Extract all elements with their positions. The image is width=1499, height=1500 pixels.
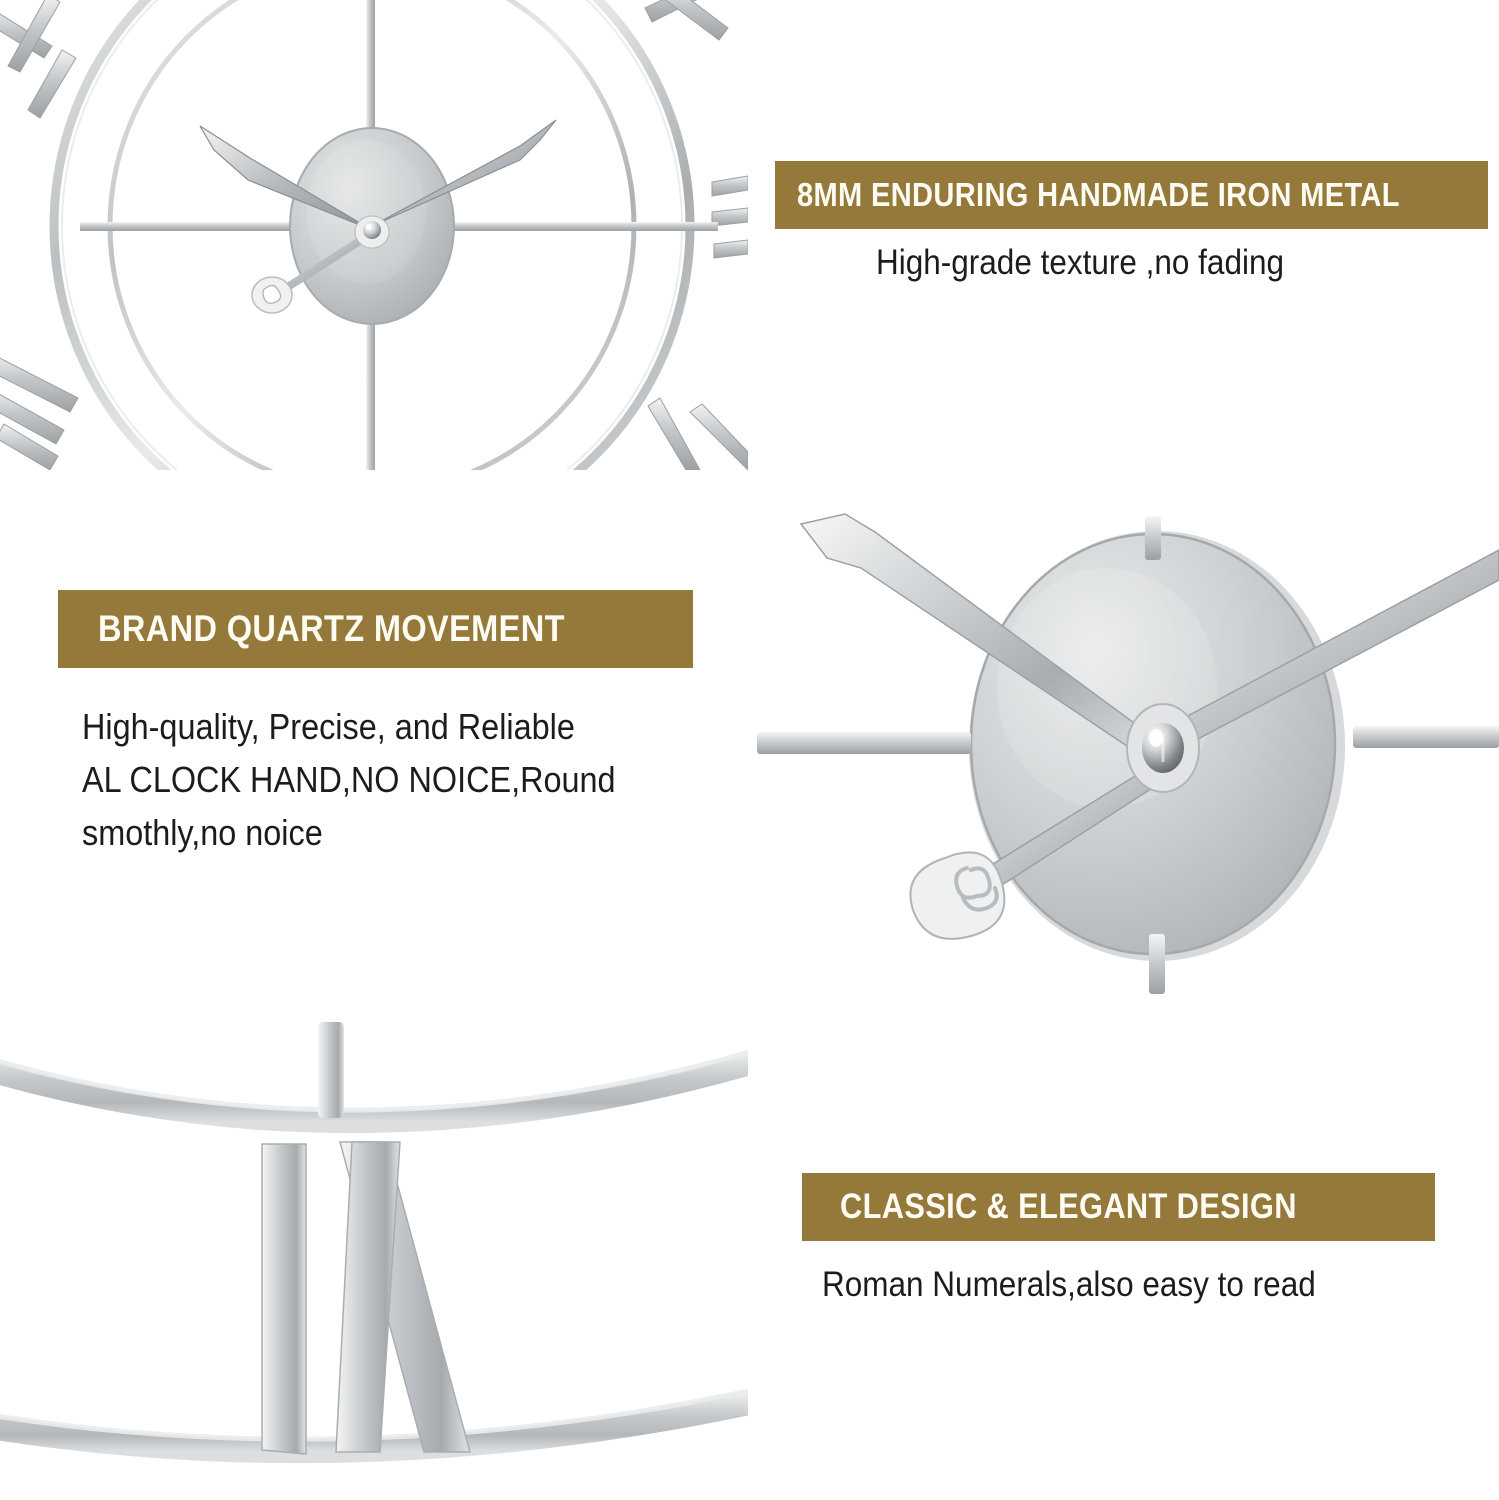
clock-hub-illustration	[757, 498, 1499, 998]
feature-caption-quartz-movement: High-quality, Precise, and Reliable AL C…	[82, 700, 616, 859]
product-infographic-page: 8MM ENDURING HANDMADE IRON METAL High-gr…	[0, 0, 1499, 1500]
clock-center-pin	[1127, 704, 1199, 792]
feature-banner-label: CLASSIC & ELEGANT DESIGN	[840, 1187, 1297, 1227]
feature-caption-iron-metal: High-grade texture ,no fading	[876, 243, 1284, 283]
clock-hub-macro-photo	[757, 498, 1499, 998]
roman-numeral-illustration	[0, 1022, 748, 1500]
feature-banner-quartz-movement: BRAND QUARTZ MOVEMENT	[58, 590, 693, 668]
caption-line: smothly,no noice	[82, 806, 616, 859]
feature-caption-classic-design: Roman Numerals,also easy to read	[822, 1265, 1316, 1305]
roman-numeral-I-stroke	[262, 1144, 306, 1454]
feature-banner-label: 8MM ENDURING HANDMADE IRON METAL	[797, 176, 1400, 214]
clock-top-spoke	[318, 1022, 344, 1118]
clock-face-illustration	[0, 0, 748, 470]
feature-banner-iron-metal: 8MM ENDURING HANDMADE IRON METAL	[775, 161, 1488, 229]
caption-line: AL CLOCK HAND,NO NOICE,Round	[82, 753, 616, 806]
clock-face-closeup-photo	[0, 0, 748, 470]
feature-banner-classic-design: CLASSIC & ELEGANT DESIGN	[802, 1173, 1435, 1241]
clock-center-pin	[355, 216, 389, 248]
roman-numeral-detail-photo	[0, 1022, 748, 1500]
roman-numeral-III	[712, 176, 748, 258]
feature-banner-label: BRAND QUARTZ MOVEMENT	[98, 608, 565, 650]
caption-line: High-quality, Precise, and Reliable	[82, 700, 616, 753]
